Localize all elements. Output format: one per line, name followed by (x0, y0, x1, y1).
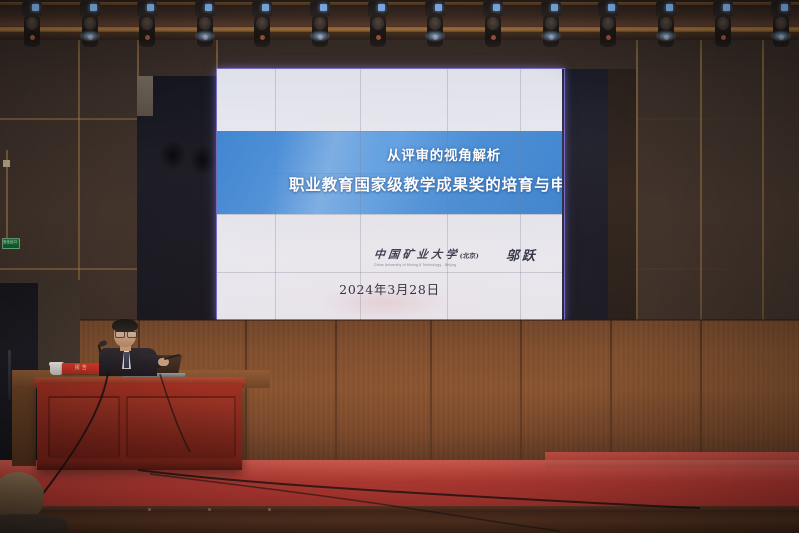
light-status-dot (30, 35, 35, 40)
slide-upper-background (217, 69, 562, 131)
light-indicator-led (723, 4, 730, 11)
stage-light-fixture (250, 2, 274, 56)
wall-shadow-blob (190, 145, 216, 175)
light-indicator-led (666, 4, 673, 11)
stage-light-fixture (711, 2, 735, 56)
led-panel-seam (217, 131, 562, 132)
presenter-glasses-lens-right (127, 331, 137, 338)
wall-light-patch (137, 76, 153, 116)
audience-member-head (0, 472, 44, 520)
light-beam-glow (655, 30, 677, 42)
presentation-photo-scene: 安全出口 从评审的视角解析 职业教育国家级教学成果奖的培育与申报 中国矿业大学(… (0, 0, 799, 533)
light-lens (775, 17, 787, 30)
dark-wall-panel-right (561, 69, 608, 321)
stage-light-fixture (20, 2, 44, 56)
light-status-dot (491, 35, 496, 40)
light-beam-glow (770, 30, 792, 42)
light-lens (84, 17, 96, 30)
light-lens (545, 17, 557, 30)
led-panel-seam (447, 69, 448, 320)
light-indicator-led (32, 4, 39, 11)
light-indicator-led (205, 4, 212, 11)
podium-front-panel (48, 396, 120, 458)
led-panel-seam (217, 173, 562, 174)
wainscot-seam (335, 320, 337, 462)
light-indicator-led (147, 4, 154, 11)
stage-light-fixture (654, 2, 678, 56)
wainscot-seam (610, 320, 612, 462)
light-status-dot (376, 35, 381, 40)
presenter-tie (124, 352, 129, 368)
stage-light-fixture (78, 2, 102, 56)
podium-front-panel (126, 396, 236, 458)
light-indicator-led (262, 4, 269, 11)
podium-base (37, 462, 242, 470)
light-beam-glow (194, 30, 216, 42)
wainscot-seam (245, 320, 247, 462)
slide-date: 2024年3月28日 (217, 279, 562, 298)
stage-light-fixture (308, 2, 332, 56)
light-lens (199, 17, 211, 30)
light-beam-glow (309, 30, 331, 42)
truss-rail-upper (0, 2, 799, 5)
nameplate-label: 报 告 (64, 364, 98, 371)
led-panel-seam (217, 214, 562, 215)
slide-title-line-1: 从评审的视角解析 (387, 144, 501, 164)
light-indicator-led (320, 4, 327, 11)
stage-light-fixture (423, 2, 447, 56)
stage-light-fixture (135, 2, 159, 56)
led-panel-seam (360, 69, 361, 320)
exit-sign-label: 安全出口 (2, 239, 18, 244)
university-logo: 中国矿业大学(北京) China University of Mining & … (374, 246, 494, 267)
slide-title-line-2: 职业教育国家级教学成果奖的培育与申报 (289, 173, 562, 195)
light-beam-glow (540, 30, 562, 42)
light-indicator-led (608, 4, 615, 11)
wainscot-seam (520, 320, 522, 462)
stage-light-fixture (481, 2, 505, 56)
light-indicator-led (435, 4, 442, 11)
stage-light-fixture (193, 2, 217, 56)
university-name-cn: 中国矿业大学(北京) (373, 246, 495, 262)
led-panel-seam (217, 272, 562, 273)
led-panel-seam (275, 69, 276, 320)
conduit-junction-box (3, 160, 10, 167)
desk-side-panel (12, 386, 36, 466)
led-video-wall[interactable]: 从评审的视角解析 职业教育国家级教学成果奖的培育与申报 中国矿业大学(北京) C… (217, 69, 562, 320)
stage-lip-stud (268, 508, 271, 511)
light-indicator-led (493, 4, 500, 11)
light-lens (314, 17, 326, 30)
stage-light-fixture (539, 2, 563, 56)
wall-shadow-blob (160, 140, 186, 170)
light-beam-glow (79, 30, 101, 42)
slide-speaker-name: 邬跃 (506, 245, 538, 264)
university-name-en: China University of Mining & Technology … (374, 263, 494, 267)
dark-wall-panel-right-2 (608, 69, 636, 321)
door-handle[interactable] (8, 350, 11, 400)
light-indicator-led (781, 4, 788, 11)
wainscot-seam (430, 320, 432, 462)
light-indicator-led (90, 4, 97, 11)
truss-rail-lower (0, 27, 799, 32)
ceiling-truss (0, 0, 799, 40)
university-campus-paren: (北京) (459, 252, 479, 260)
stage-light-fixture (366, 2, 390, 56)
stage-light-fixture (769, 2, 793, 56)
light-lens (26, 17, 38, 30)
light-indicator-led (378, 4, 385, 11)
audience-member-shoulders (0, 514, 68, 533)
light-lens (660, 17, 672, 30)
stage-front-face (0, 512, 799, 533)
light-lens (372, 17, 384, 30)
light-indicator-led (551, 4, 558, 11)
presenter-glasses-lens-left (115, 331, 125, 338)
led-panel-seam (520, 69, 521, 320)
wainscot-seam (700, 320, 702, 462)
stage-lip-stud (148, 508, 151, 511)
stage-light-fixture (596, 2, 620, 56)
light-lens (487, 17, 499, 30)
stage-lip-stud (208, 508, 211, 511)
